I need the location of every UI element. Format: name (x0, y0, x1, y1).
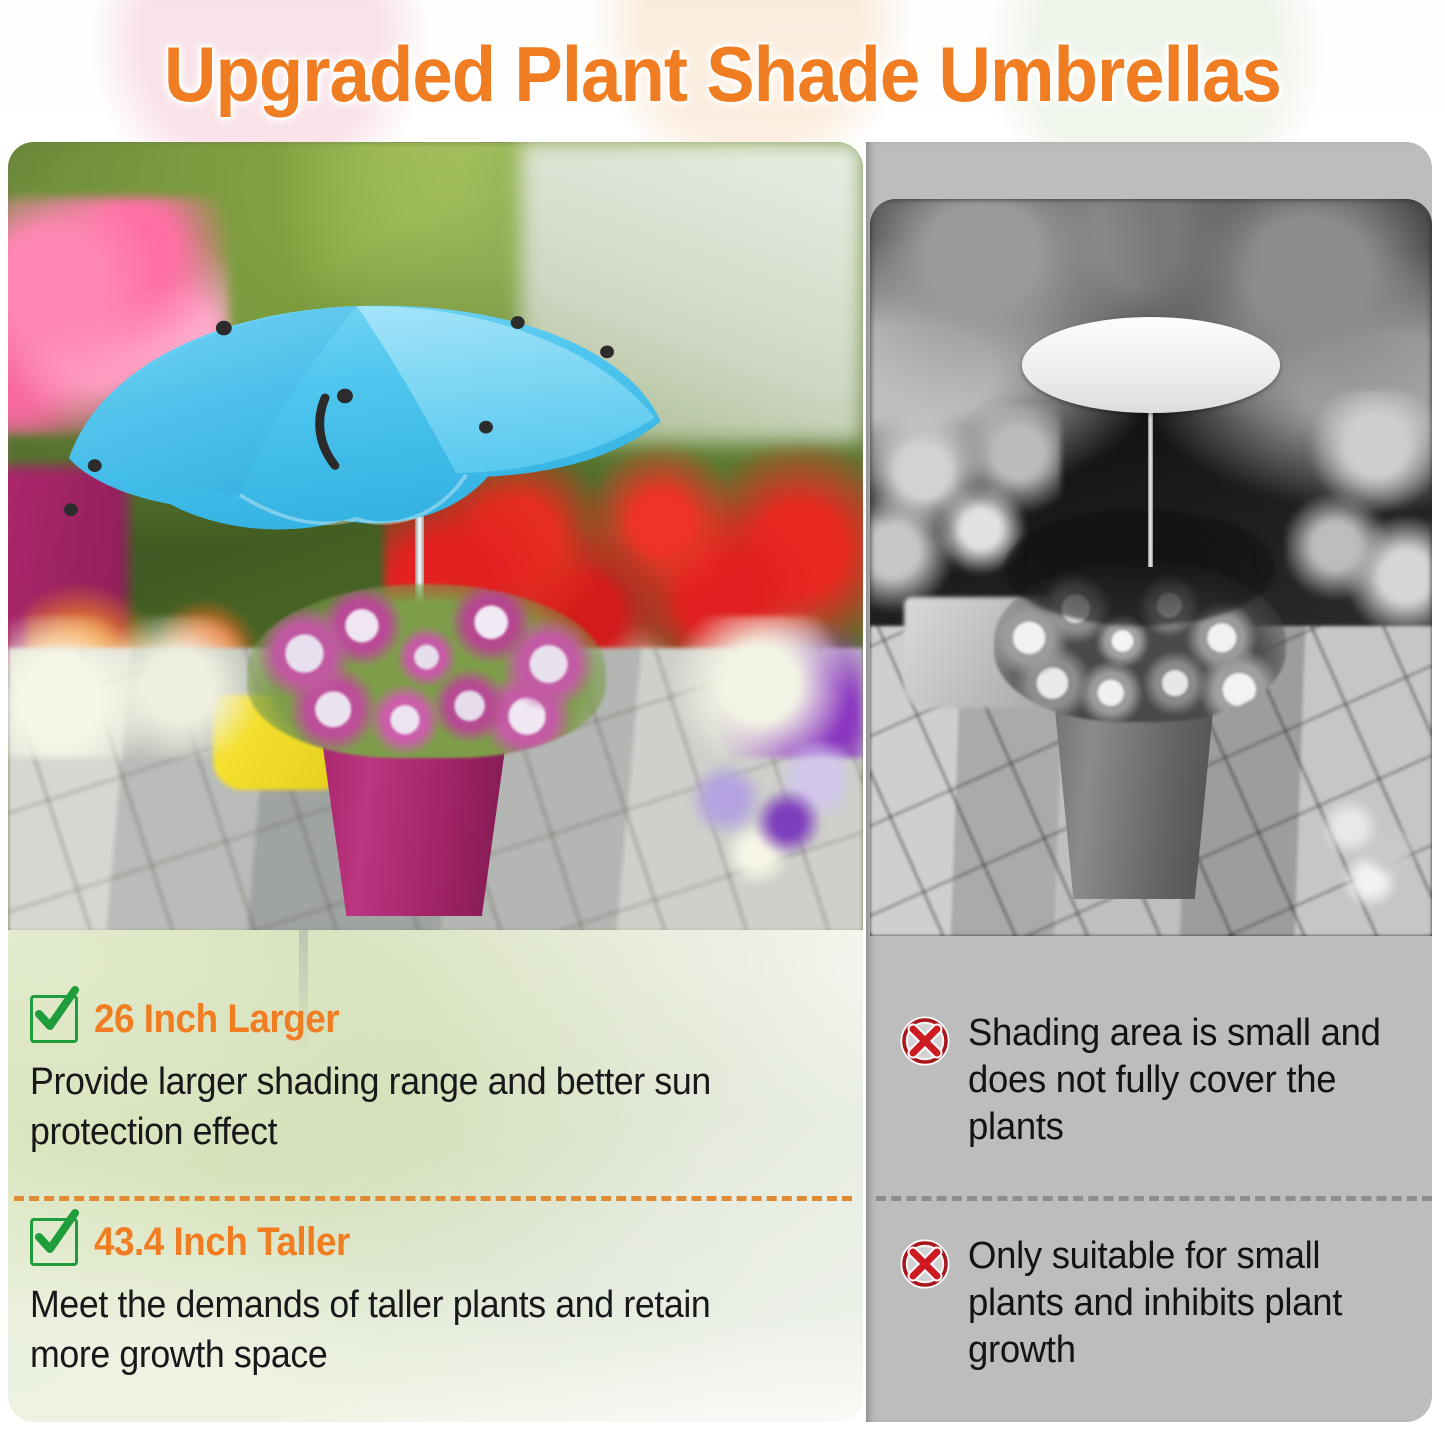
cross-circle-icon (900, 1239, 950, 1289)
pro-feature-2-title: 43.4 Inch Taller (94, 1220, 350, 1265)
con-feature-2: Only suitable for small plants and inhib… (900, 1233, 1420, 1374)
pro-feature-2-head: 43.4 Inch Taller (30, 1218, 850, 1266)
check-box-icon (30, 1218, 78, 1266)
blue-shade-umbrella-icon (59, 284, 675, 568)
competitor-photo-grayscale (870, 199, 1432, 936)
pro-feature-1: 26 Inch Larger Provide larger shading ra… (30, 995, 850, 1157)
right-panel-divider (876, 1196, 1432, 1201)
left-panel-divider (14, 1196, 852, 1201)
pro-feature-1-head: 26 Inch Larger (30, 995, 850, 1043)
right-comparison-panel (866, 142, 1432, 1422)
check-box-icon (30, 995, 78, 1043)
photo-purple-petunias (675, 742, 846, 884)
check-mark-icon (27, 1205, 83, 1261)
con-feature-1-inner: Shading area is small and does not fully… (900, 1010, 1420, 1151)
product-photo-color (8, 142, 863, 932)
photo-right-foliage-gray (1286, 391, 1432, 642)
con-feature-2-body: Only suitable for small plants and inhib… (968, 1233, 1402, 1374)
photo-pink-daisies (247, 584, 606, 758)
check-mark-icon (27, 982, 83, 1038)
cross-circle-glyph (900, 1239, 950, 1289)
small-shade-pole (1148, 405, 1153, 567)
small-flat-shade-disc (1022, 317, 1281, 413)
con-feature-1-body: Shading area is small and does not fully… (968, 1010, 1402, 1151)
pro-feature-2: 43.4 Inch Taller Meet the demands of tal… (30, 1218, 850, 1380)
photo-petunias-gray (1314, 774, 1426, 907)
con-feature-1: Shading area is small and does not fully… (900, 1010, 1420, 1151)
con-feature-2-inner: Only suitable for small plants and inhib… (900, 1233, 1420, 1374)
pro-feature-1-title: 26 Inch Larger (94, 997, 339, 1042)
cross-circle-glyph (900, 1016, 950, 1066)
cross-circle-icon (900, 1016, 950, 1066)
page-title: Upgraded Plant Shade Umbrellas (51, 26, 1395, 122)
small-shade-shadow-ellipse (1005, 509, 1275, 627)
pro-feature-1-body: Provide larger shading range and better … (30, 1057, 782, 1157)
pro-feature-2-body: Meet the demands of taller plants and re… (30, 1280, 782, 1380)
